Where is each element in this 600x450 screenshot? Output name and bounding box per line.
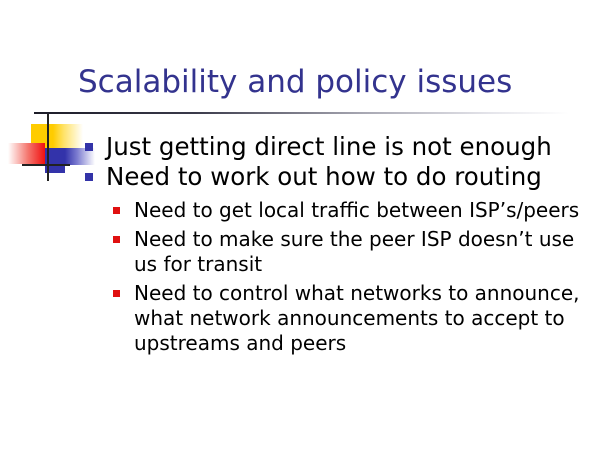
square-bullet-icon [113, 290, 120, 297]
bullet-text: Need to make sure the peer ISP doesn’t u… [134, 227, 582, 277]
bullet-text: Need to control what networks to announc… [134, 281, 582, 356]
slide-canvas: Scalability and policy issues Just getti… [0, 0, 600, 450]
square-bullet-icon [85, 173, 93, 181]
bullet-list-level2: Need to get local traffic between ISP’s/… [0, 198, 600, 356]
square-bullet-icon [85, 143, 93, 151]
bullet-text: Need to get local traffic between ISP’s/… [134, 198, 582, 223]
bullet-text: Just getting direct line is not enough [106, 132, 600, 161]
list-item: Need to work out how to do routing [0, 162, 600, 191]
list-item: Just getting direct line is not enough [0, 132, 600, 161]
square-bullet-icon [113, 236, 120, 243]
slide-title: Scalability and policy issues [78, 62, 578, 102]
bullet-text: Need to work out how to do routing [106, 162, 600, 191]
title-divider-rule [34, 112, 569, 114]
bullet-list-level1: Just getting direct line is not enough N… [0, 132, 600, 191]
slide-body: Just getting direct line is not enough N… [0, 132, 600, 360]
list-item: Need to get local traffic between ISP’s/… [0, 198, 600, 223]
list-item: Need to control what networks to announc… [0, 281, 600, 356]
list-item: Need to make sure the peer ISP doesn’t u… [0, 227, 600, 277]
square-bullet-icon [113, 207, 120, 214]
